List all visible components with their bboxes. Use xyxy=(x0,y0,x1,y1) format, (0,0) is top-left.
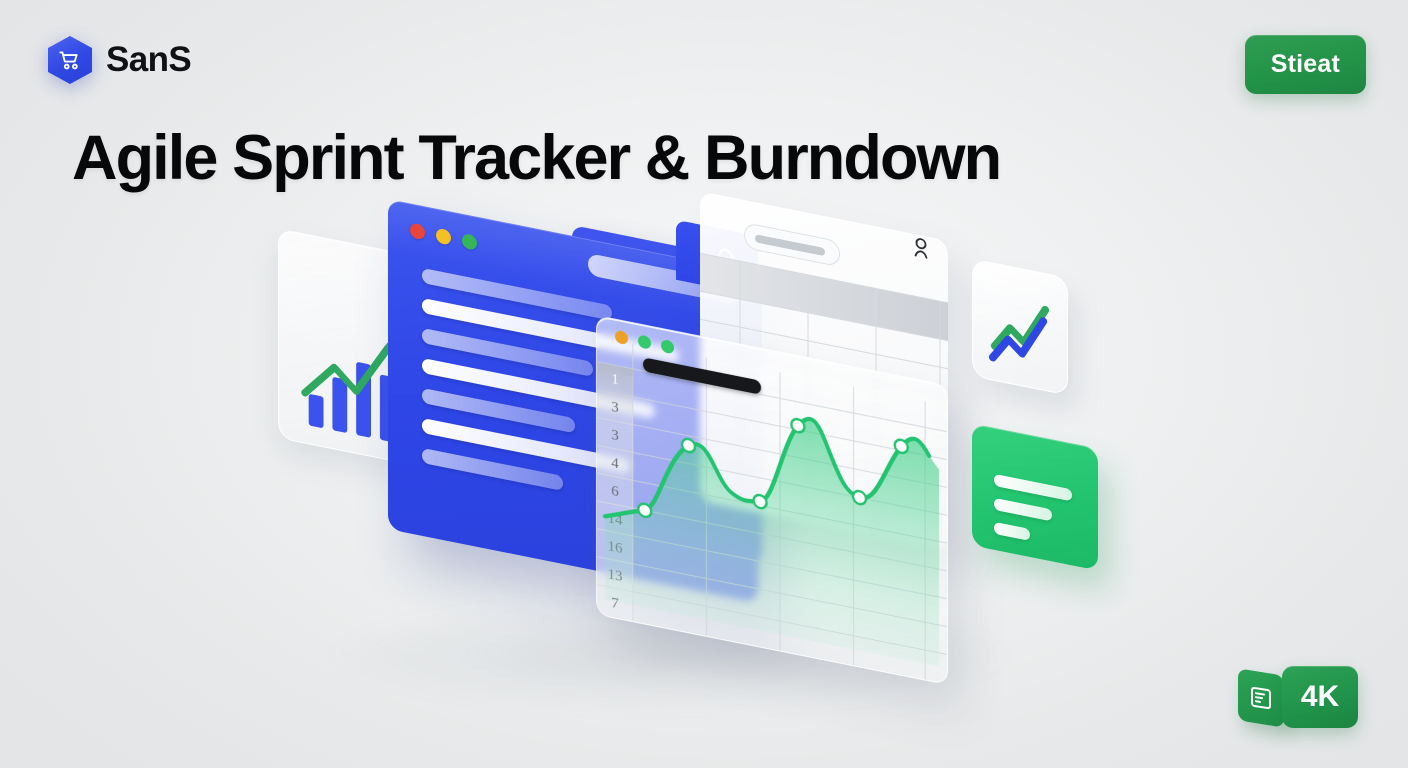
chart-document-icon xyxy=(1249,684,1273,712)
text-lines-card xyxy=(972,423,1098,570)
chart-area-fill xyxy=(605,377,939,666)
minimize-dot-icon[interactable] xyxy=(436,228,451,246)
traffic-light-dots xyxy=(410,222,477,250)
card-line xyxy=(994,474,1072,502)
search-person-icon[interactable] xyxy=(908,232,934,263)
fullscreen-dot-icon[interactable] xyxy=(661,339,674,355)
resolution-badge: 4K xyxy=(1282,666,1358,728)
card-line xyxy=(994,522,1030,541)
maximize-dot-icon[interactable] xyxy=(638,334,651,350)
line-trend-icon xyxy=(973,260,1067,395)
hero-illustration: 1 3 3 4 6 14 16 13 7 xyxy=(0,0,1408,768)
chart-document-badge[interactable] xyxy=(1238,668,1284,727)
minimize-dot-icon[interactable] xyxy=(615,330,628,346)
line-trend-card xyxy=(972,258,1068,395)
close-dot-icon[interactable] xyxy=(410,222,425,240)
card-line xyxy=(994,498,1052,522)
maximize-dot-icon[interactable] xyxy=(462,233,477,251)
